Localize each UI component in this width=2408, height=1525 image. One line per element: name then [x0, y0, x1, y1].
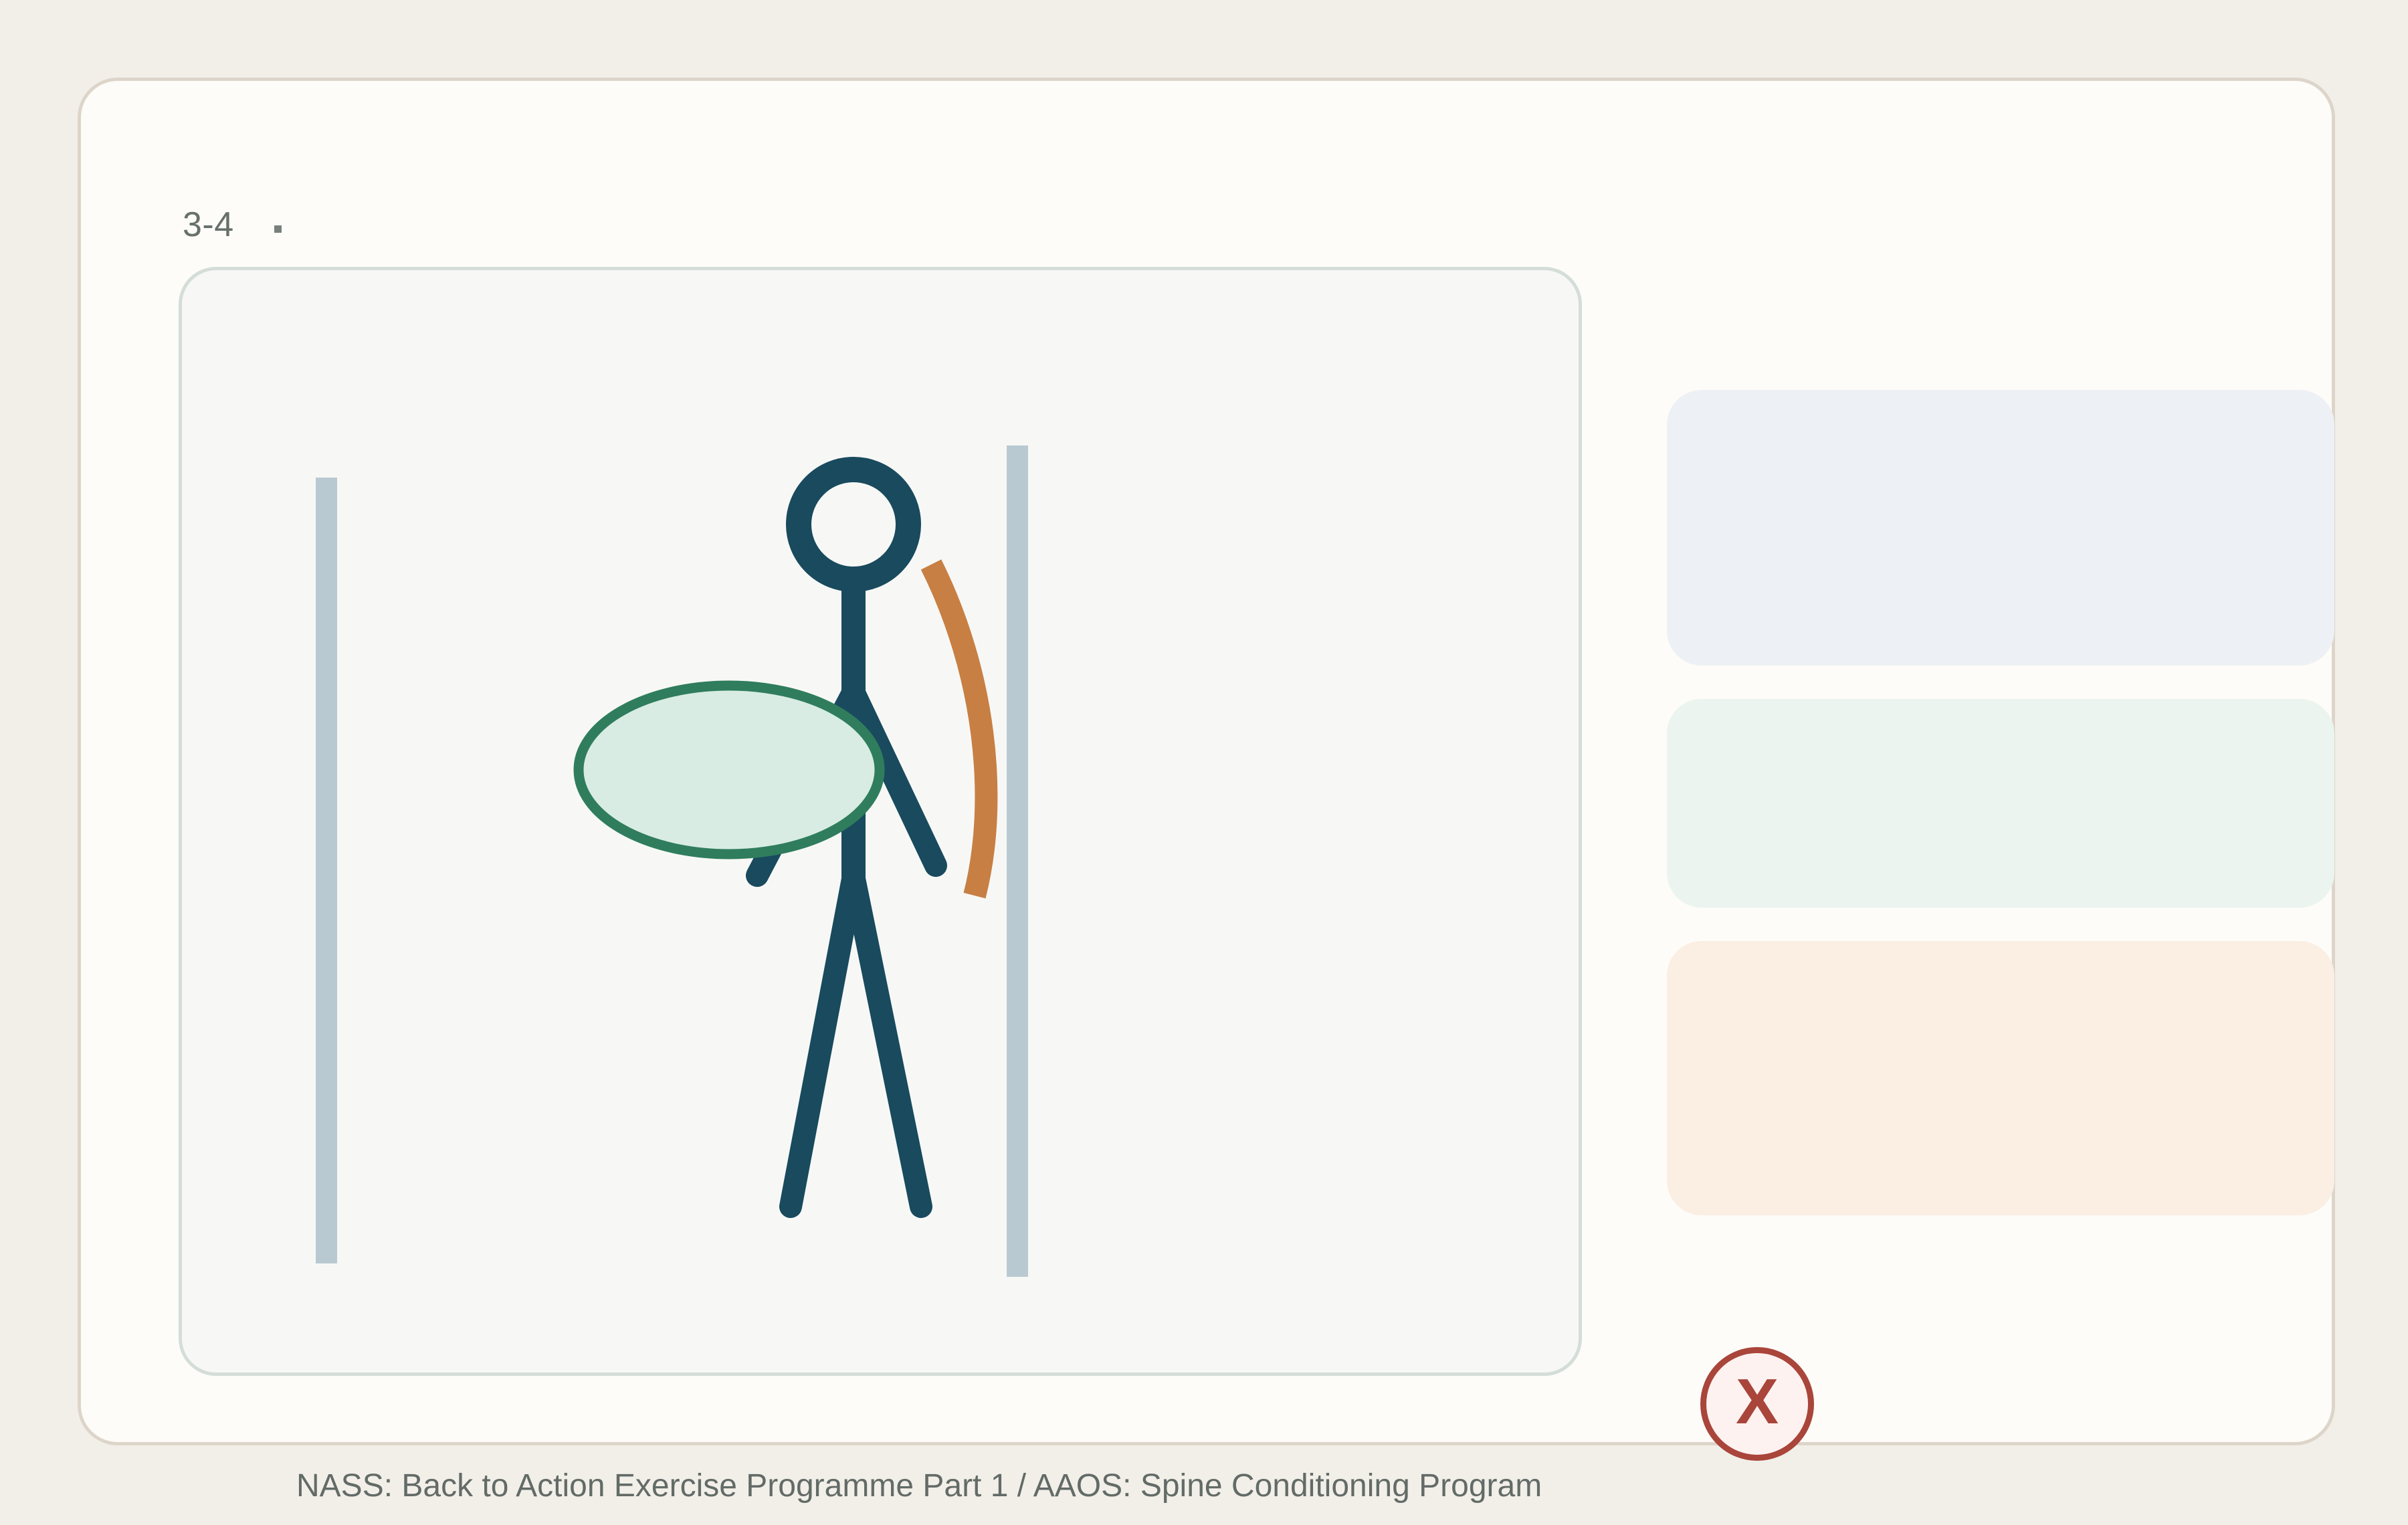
stick-figure-right-leg: [854, 876, 921, 1207]
stick-figure-left-leg: [791, 876, 854, 1207]
exercise-card: 3-4: [78, 78, 2335, 1445]
stick-figure-head: [799, 470, 908, 579]
step-header: 3-4: [183, 205, 282, 245]
close-button[interactable]: X: [1700, 1347, 1814, 1461]
info-card-instructions[interactable]: [1667, 390, 2334, 666]
right-support-bar: [1007, 445, 1028, 1277]
info-card-cautions[interactable]: [1667, 941, 2334, 1215]
left-support-bar: [316, 478, 337, 1263]
info-card-benefits[interactable]: [1667, 699, 2334, 908]
illustration-panel: [179, 267, 1582, 1376]
info-panel: [1667, 390, 2334, 1215]
source-credit-label: NASS: Back to Action Exercise Programme …: [296, 1467, 1542, 1504]
exercise-ball: [579, 686, 880, 854]
step-number-label: 3-4: [183, 207, 234, 242]
separator-dot-icon: [274, 225, 282, 233]
exercise-illustration: [182, 270, 1579, 1372]
motion-arc-icon: [931, 565, 986, 896]
close-icon: X: [1736, 1370, 1779, 1434]
